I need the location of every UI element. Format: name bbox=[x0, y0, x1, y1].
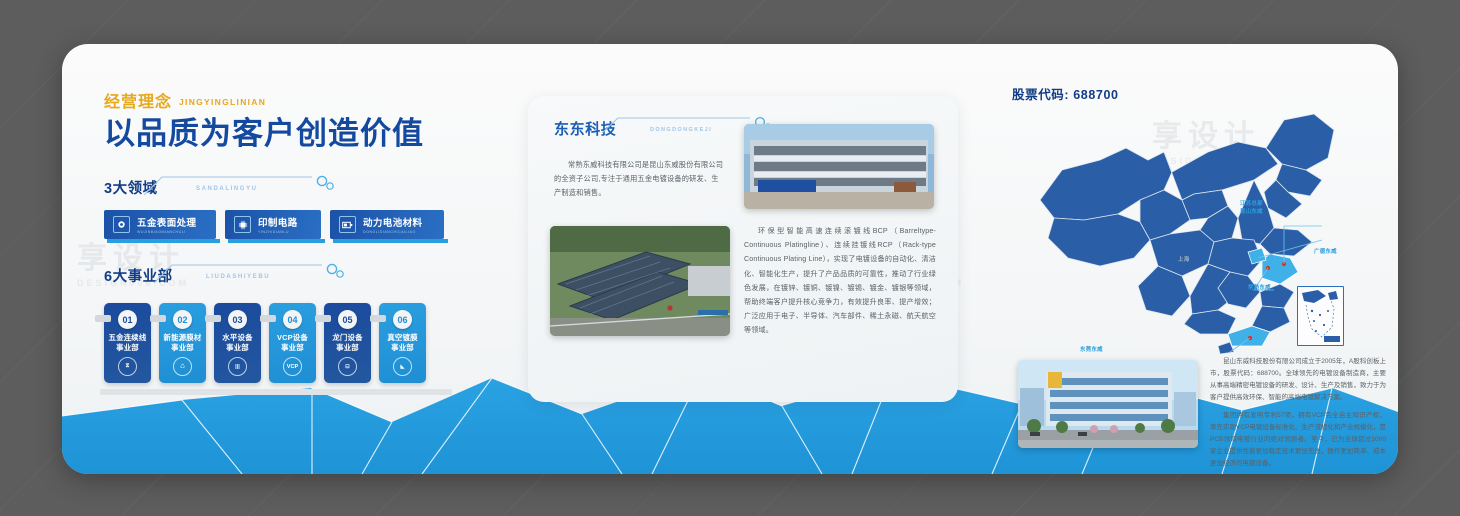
unit-number: 03 bbox=[228, 310, 247, 329]
ring-icon bbox=[113, 216, 130, 233]
unit-label-line2: 事业部 bbox=[171, 343, 194, 352]
business-unit-row: 01 五金连续线 事业部 ⧖ 02 新能源膜材 事业部 ♺ bbox=[104, 303, 504, 383]
eyebrow: 经营理念JINGYINGLINIAN bbox=[104, 88, 504, 112]
unit-number: 02 bbox=[173, 310, 192, 329]
recycle-icon: ♺ bbox=[173, 357, 192, 376]
section-pinyin-units: LIUDASHIYEBU bbox=[206, 274, 270, 280]
domain-label: 印制电路 bbox=[258, 215, 298, 229]
unit-label-line2: 事业部 bbox=[226, 343, 249, 352]
card-tab bbox=[370, 315, 386, 322]
company-paragraph-2: 集团拥有发明专利57项，拥有VCP完全自主知识产权，率先实现VCP电镀设备标准化… bbox=[1210, 410, 1386, 470]
eyebrow-cn: 经营理念 bbox=[104, 94, 172, 111]
domain-label: 五金表面处理 bbox=[137, 215, 196, 229]
business-unit-card-01[interactable]: 01 五金连续线 事业部 ⧖ bbox=[104, 303, 151, 383]
company-description: 昆山东威科技股份有限公司成立于2005年，A股科创板上市，股票代码：688700… bbox=[1210, 356, 1386, 474]
domain-label: 动力电池材料 bbox=[363, 215, 422, 229]
subsidiary-pinyin: DONGDONGKEJI bbox=[650, 127, 712, 133]
domain-pinyin: WUJINBIAOMIANCHULI bbox=[137, 230, 196, 234]
bars-icon: ||| bbox=[228, 357, 247, 376]
business-unit-card-03[interactable]: 03 水平设备 事业部 ||| bbox=[214, 303, 261, 383]
right-column: 股票代码: 688700 bbox=[1012, 84, 1392, 464]
loop-icon: ⧖ bbox=[118, 357, 137, 376]
business-unit-card-05[interactable]: 05 龙门设备 事业部 ⊟ bbox=[324, 303, 371, 383]
card-tab bbox=[150, 315, 166, 322]
card-base-shelf bbox=[100, 389, 452, 395]
domain-card-list: 五金表面处理 WUJINBIAOMIANCHULI 印制电路 YINZHIDIA… bbox=[104, 210, 504, 239]
card-tab bbox=[95, 315, 111, 322]
map-label-guangde: 广德东威 bbox=[1314, 248, 1337, 256]
aerial-factory-photo bbox=[550, 226, 730, 336]
chip-icon bbox=[234, 216, 251, 233]
unit-label-line1: VCP设备 bbox=[277, 333, 308, 342]
domain-pinyin: DONGLIDIANCHICAILIAO bbox=[363, 230, 422, 234]
headquarters-building-photo bbox=[1018, 360, 1198, 448]
company-paragraph-1: 昆山东威科技股份有限公司成立于2005年，A股科创板上市，股票代码：688700… bbox=[1210, 356, 1386, 404]
subsidiary-intro: 常熟东威科技有限公司是昆山东威股份有限公司的全资子公司,专注于通用五金电镀设备的… bbox=[554, 158, 726, 200]
card-tab bbox=[205, 315, 221, 322]
unit-number: 01 bbox=[118, 310, 137, 329]
business-unit-card-02[interactable]: 02 新能源膜材 事业部 ♺ bbox=[159, 303, 206, 383]
south-china-sea-inset-map bbox=[1297, 286, 1344, 346]
vcp-icon: VCP bbox=[283, 357, 302, 376]
unit-label-line2: 事业部 bbox=[336, 343, 359, 352]
poster-panel: 享设计 DESIGN006.COM 享设计 DESIGN006.COM 享设计 … bbox=[62, 44, 1398, 474]
unit-label-line1: 水平设备 bbox=[222, 333, 252, 342]
map-label-dongguan: 东莞东威 bbox=[1080, 346, 1103, 354]
unit-label-line1: 新能源膜材 bbox=[164, 333, 202, 342]
unit-number: 06 bbox=[393, 310, 412, 329]
domain-card-pcb[interactable]: 印制电路 YINZHIDIANLU bbox=[225, 210, 321, 239]
domain-card-battery[interactable]: 动力电池材料 DONGLIDIANCHICAILIAO bbox=[330, 210, 444, 239]
section-pinyin-domains: SANDALINGYU bbox=[196, 186, 258, 192]
business-unit-card-06[interactable]: 06 真空镀膜 事业部 ◣ bbox=[379, 303, 426, 383]
factory-building-photo bbox=[744, 124, 934, 209]
unit-label-line1: 真空镀膜 bbox=[387, 333, 417, 342]
unit-number: 05 bbox=[338, 310, 357, 329]
domain-card-hardware[interactable]: 五金表面处理 WUJINBIAOMIANCHULI bbox=[104, 210, 216, 239]
china-map: 江苏总部昆山东威 广德东威 常熟东威 东莞东威 上海 bbox=[1022, 108, 1382, 358]
coating-icon: ◣ bbox=[393, 357, 412, 376]
map-label-jiangsu-hq: 江苏总部昆山东威 bbox=[1240, 200, 1263, 216]
unit-label-line1: 五金连续线 bbox=[109, 333, 147, 342]
map-label-changshu: 常熟东威 bbox=[1248, 284, 1271, 292]
card-tab bbox=[260, 315, 276, 322]
card-tab bbox=[315, 315, 331, 322]
domain-pinyin: YINZHIDIANLU bbox=[258, 230, 298, 234]
unit-label-line2: 事业部 bbox=[116, 343, 139, 352]
section-header-domains: 3大领域 SANDALINGYU bbox=[104, 177, 504, 201]
business-unit-list: 01 五金连续线 事业部 ⧖ 02 新能源膜材 事业部 ♺ bbox=[104, 303, 504, 395]
unit-number: 04 bbox=[283, 310, 302, 329]
eyebrow-pinyin: JINGYINGLINIAN bbox=[179, 97, 266, 107]
subsidiary-body: 环保型智能高速连续滚镀线BCP（Barreltype-Continuous Pl… bbox=[744, 224, 936, 338]
business-unit-card-04[interactable]: 04 VCP设备 事业部 VCP bbox=[269, 303, 316, 383]
left-column: 经营理念JINGYINGLINIAN 以品质为客户创造价值 3大领域 SANDA… bbox=[104, 88, 504, 395]
unit-label-line1: 龙门设备 bbox=[332, 333, 362, 342]
page-title: 以品质为客户创造价值 bbox=[104, 117, 504, 151]
subsidiary-card: 东东科技 DONGDONGKEJI 常熟东威科技有限公司是昆山东威股份有限公司的… bbox=[528, 96, 958, 402]
section-header-units: 6大事业部 LIUDASHIYEBU bbox=[104, 265, 504, 289]
stock-code-label: 股票代码: 688700 bbox=[1012, 84, 1392, 103]
map-label-shanghai: 上海 bbox=[1178, 256, 1189, 264]
unit-label-line2: 事业部 bbox=[391, 343, 414, 352]
unit-label-line2: 事业部 bbox=[281, 343, 304, 352]
gantry-icon: ⊟ bbox=[338, 357, 357, 376]
battery-icon bbox=[339, 216, 356, 233]
